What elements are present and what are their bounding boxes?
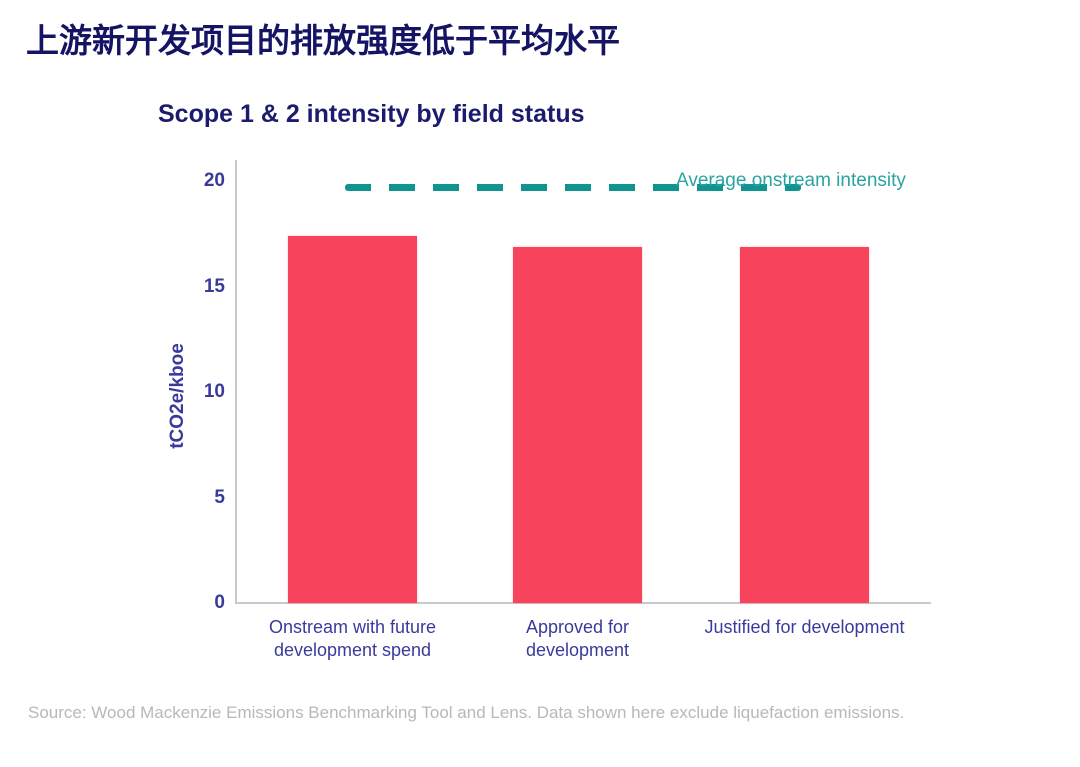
chart-container: Scope 1 & 2 intensity by field status tC… [0, 0, 1080, 690]
bar[interactable] [513, 247, 642, 604]
bar[interactable] [740, 247, 869, 604]
x-axis-category-label: Onstream with futuredevelopment spend [238, 616, 468, 662]
y-axis-tick-label: 15 [165, 276, 225, 298]
legend-label-average-onstream-intensity: Average onstream intensity [676, 170, 906, 192]
x-axis-category-label-line: Justified for development [685, 616, 925, 639]
x-axis-category-label-line: development spend [238, 639, 468, 662]
x-axis-category-label-line: Approved for [483, 616, 673, 639]
y-axis-tick-labels: 05101520 [155, 0, 225, 767]
plot-area [235, 160, 930, 603]
y-axis-tick-label: 10 [165, 381, 225, 403]
x-axis-category-label: Justified for development [685, 616, 925, 639]
bar[interactable] [288, 236, 417, 603]
y-axis-tick-label: 5 [165, 487, 225, 509]
x-axis-category-label: Approved fordevelopment [483, 616, 673, 662]
x-axis-category-label-line: development [483, 639, 673, 662]
x-axis-category-label-line: Onstream with future [238, 616, 468, 639]
y-axis-tick-label: 0 [165, 592, 225, 614]
source-note: Source: Wood Mackenzie Emissions Benchma… [28, 700, 1008, 726]
y-axis-tick-label: 20 [165, 170, 225, 192]
